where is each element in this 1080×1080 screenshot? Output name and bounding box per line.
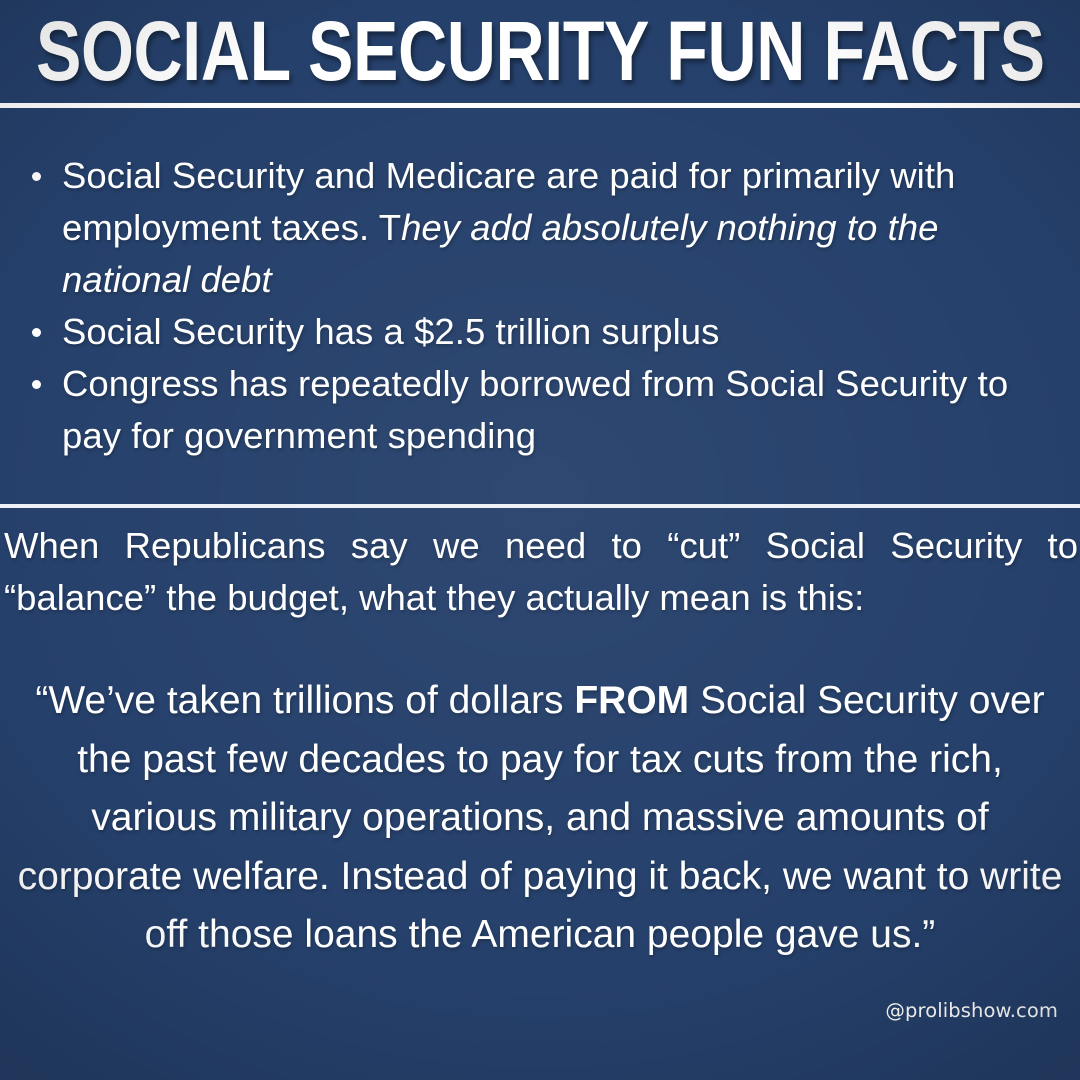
fact-emphasis-initial: T (379, 207, 401, 248)
bullet-dot-icon (32, 172, 41, 181)
list-item: Social Security and Medicare are paid fo… (0, 150, 1080, 306)
pull-quote: “We’ve taken trillions of dollars FROM S… (14, 672, 1066, 965)
bullet-dot-icon (32, 380, 41, 389)
list-item: Congress has repeatedly borrowed from So… (0, 358, 1080, 462)
list-item: Social Security has a $2.5 trillion surp… (0, 306, 1080, 358)
page-title: SOCIAL SECURITY FUN FACTS (36, 5, 856, 97)
bullet-dot-icon (32, 328, 41, 337)
divider-middle (0, 504, 1080, 508)
title-band: SOCIAL SECURITY FUN FACTS (0, 0, 1080, 103)
fact-lead-text: Social Security has a $2.5 trillion surp… (62, 311, 719, 352)
facts-list: Social Security and Medicare are paid fo… (0, 150, 1080, 462)
quote-bold-word: FROM (574, 679, 689, 722)
social-security-fun-facts-poster: SOCIAL SECURITY FUN FACTS Social Securit… (0, 0, 1080, 1080)
fact-lead-text: Congress has repeatedly borrowed from So… (62, 363, 1008, 456)
setup-paragraph: When Republicans say we need to “cut” So… (4, 520, 1078, 624)
quote-part-one: “We’ve taken trillions of dollars (35, 679, 574, 722)
divider-top (0, 103, 1080, 108)
social-handle: @prolibshow.com (885, 999, 1058, 1023)
